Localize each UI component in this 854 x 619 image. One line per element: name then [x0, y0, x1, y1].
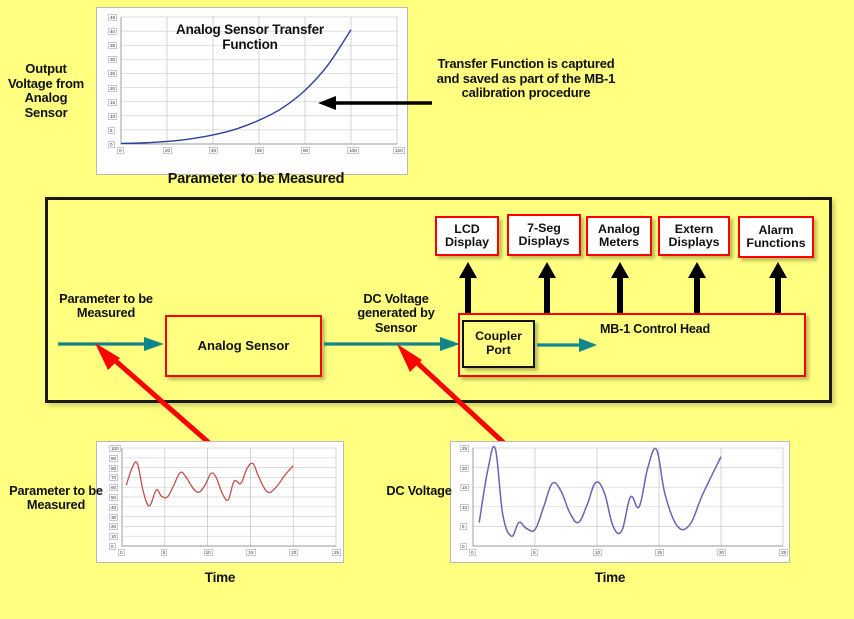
dc-voltage-vs-time-plot — [459, 444, 785, 560]
output-voltage-axis-label: Output Voltage from Analog Sensor — [4, 62, 88, 120]
up-arrow-icon-extern-displays — [688, 262, 706, 314]
up-arrow-icon-lcd — [459, 262, 477, 314]
output-tile-label: 7-Seg Displays — [509, 222, 579, 249]
output-tile-label: Analog Meters — [588, 223, 650, 250]
output-tile-alarm-functions[interactable]: Alarm Functions — [738, 216, 814, 258]
output-tile-lcd-display[interactable]: LCD Display — [435, 216, 499, 256]
signal-arrow-coupler-to-head — [537, 337, 599, 353]
output-tile-extern-displays[interactable]: Extern Displays — [658, 216, 730, 256]
mb1-control-head-label: MB-1 Control Head — [600, 322, 710, 336]
output-tile-label: Extern Displays — [660, 223, 728, 250]
parameter-chart-y-axis-label: Parameter to be Measured — [4, 484, 108, 513]
transfer-function-x-axis-label: Parameter to be Measured — [118, 171, 394, 187]
dc-voltage-chart-x-axis-label: Time — [530, 570, 690, 585]
sensor-output-label: DC Voltage generated by Sensor — [338, 292, 454, 335]
annotation-arrow-icon — [310, 92, 434, 114]
output-tile-label: Alarm Functions — [740, 224, 812, 251]
parameter-vs-time-plot — [108, 444, 338, 560]
up-arrow-icon-7seg — [538, 262, 556, 314]
transfer-function-annotation: Transfer Function is captured and saved … — [432, 57, 620, 101]
transfer-function-title: Analog Sensor Transfer Function — [150, 22, 350, 52]
up-arrow-icon-alarm-functions — [769, 262, 787, 314]
up-arrow-icon-analog-meters — [611, 262, 629, 314]
dc-voltage-chart-y-axis-label: DC Voltage — [383, 484, 455, 498]
output-tile-7-seg-displays[interactable]: 7-Seg Displays — [507, 214, 581, 256]
diagram-canvas: 051015202530354045020406080100120 Analog… — [0, 0, 854, 619]
parameter-input-label: Parameter to be Measured — [56, 292, 156, 321]
output-tile-analog-meters[interactable]: Analog Meters — [586, 216, 652, 256]
parameter-chart-x-axis-label: Time — [140, 570, 300, 585]
output-tile-label: LCD Display — [437, 223, 497, 250]
